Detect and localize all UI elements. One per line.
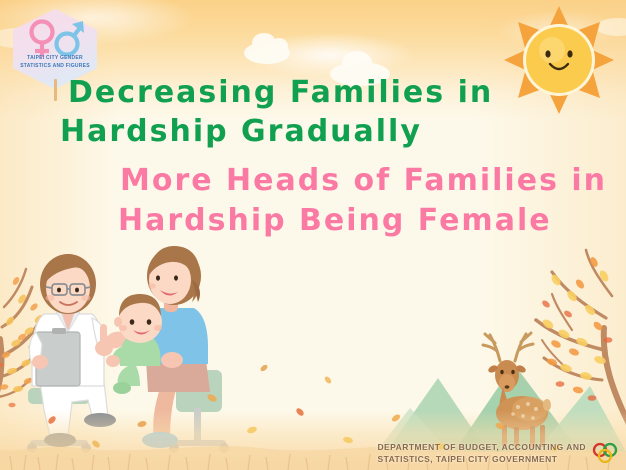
- footer: DEPARTMENT OF BUDGET, ACCOUNTING AND STA…: [377, 441, 618, 465]
- mars-symbol: [57, 21, 85, 55]
- title-green-line2: Hardship Gradually: [60, 117, 422, 147]
- title-green-line1: Decreasing Families in: [68, 78, 493, 108]
- venus-symbol: [32, 22, 53, 58]
- logo-text-line1: TAIPEI CITY GENDER: [13, 55, 97, 63]
- logo-post: [54, 79, 57, 101]
- cloud-icon: [244, 42, 290, 64]
- title-pink-line2: Hardship Being Female: [118, 206, 552, 236]
- logo-text: TAIPEI CITY GENDER STATISTICS AND FIGURE…: [13, 55, 97, 70]
- logo-text-line2: STATISTICS AND FIGURES: [13, 63, 97, 71]
- poster-canvas: TAIPEI CITY GENDER STATISTICS AND FIGURE…: [0, 0, 626, 470]
- footer-line2: STATISTICS, TAIPEI CITY GOVERNMENT: [377, 453, 586, 465]
- rings-logo-icon: [592, 442, 618, 464]
- footer-text: DEPARTMENT OF BUDGET, ACCOUNTING AND STA…: [377, 441, 586, 465]
- sun-icon: [500, 6, 618, 114]
- footer-line1: DEPARTMENT OF BUDGET, ACCOUNTING AND: [377, 441, 586, 453]
- title-pink-line1: More Heads of Families in: [120, 166, 607, 196]
